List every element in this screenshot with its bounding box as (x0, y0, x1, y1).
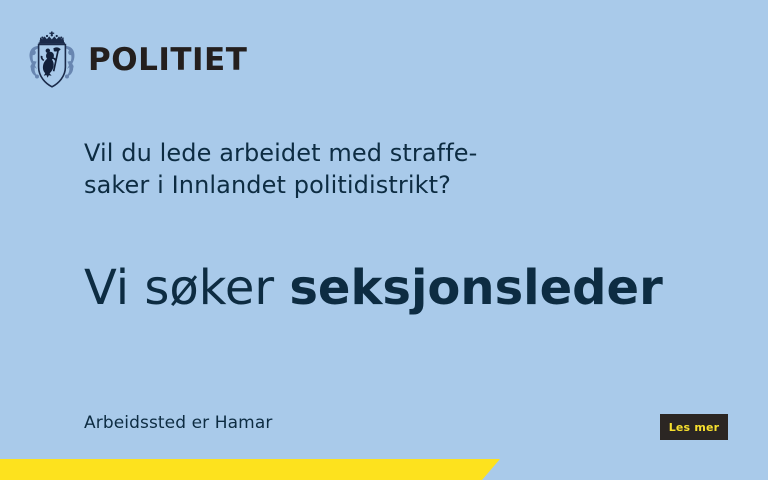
les-mer-label: Les mer (669, 422, 720, 433)
subtitle-line-1: Vil du lede arbeidet med straffe- (84, 138, 704, 170)
politiet-wordmark: POLITIET (88, 45, 247, 76)
yellow-accent-stripe (0, 459, 500, 480)
subtitle-line-2: saker i Innlandet politidistrikt? (84, 170, 704, 202)
headline-bold-part: seksjonsleder (289, 260, 662, 316)
workplace-location: Arbeidssted er Hamar (84, 413, 272, 433)
job-ad-banner: POLITIET Vil du lede arbeidet med straff… (0, 0, 768, 480)
subtitle: Vil du lede arbeidet med straffe- saker … (84, 138, 704, 202)
headline: Vi søker seksjonsleder (84, 263, 744, 313)
headline-light-part: Vi søker (84, 260, 289, 316)
les-mer-button[interactable]: Les mer (660, 414, 728, 440)
politiet-logo: POLITIET (26, 30, 247, 90)
norwegian-coat-of-arms-icon (26, 31, 78, 89)
